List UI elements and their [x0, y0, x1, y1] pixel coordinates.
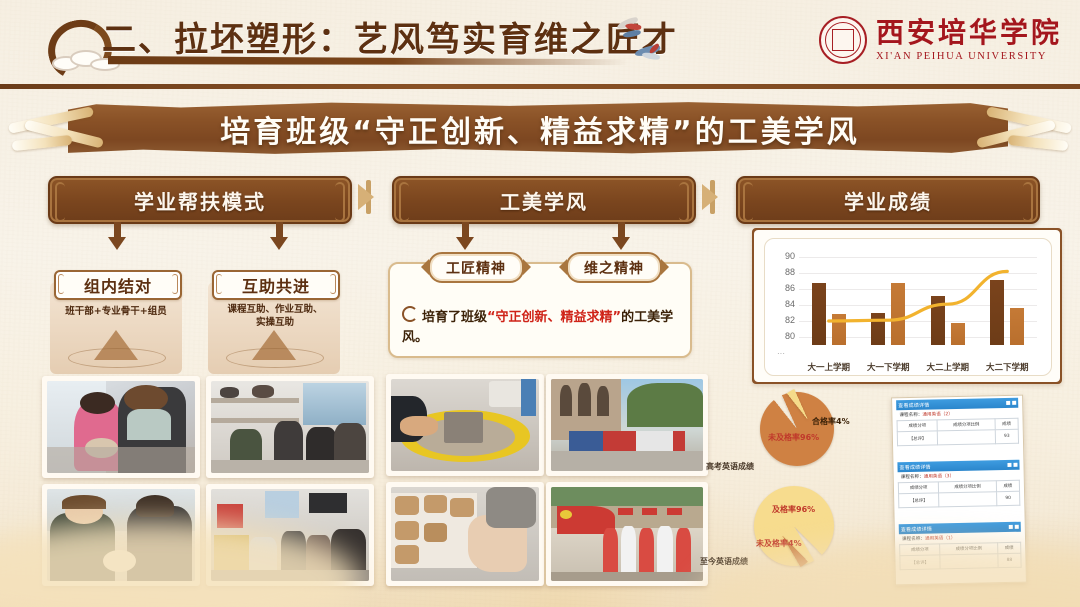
chart-y-tick: 82 — [769, 315, 795, 325]
course-value: 通用英语（2） — [922, 412, 953, 418]
spirit-pill-1[interactable]: 工匠精神 — [428, 252, 524, 283]
table-row: 【总评】90 — [899, 491, 1020, 508]
pie-slice-label: 未及格率4% — [756, 538, 802, 549]
chart-y-tick: 84 — [769, 299, 795, 309]
window-title: 查看成绩详情 — [899, 463, 930, 471]
minimize-icon[interactable] — [1006, 401, 1010, 405]
col-score: 成绩 — [995, 418, 1018, 429]
chart-x-label: 大二下学期 — [979, 361, 1035, 373]
slide-root: 二、拉坯塑形：艺风笃实育维之匠才 西安培华学院 XI'AN PEIHUA UNI… — [0, 0, 1080, 607]
bullet-circle-icon — [402, 306, 418, 322]
window-controls[interactable] — [1009, 525, 1019, 529]
photo-campus-group-photo[interactable] — [546, 374, 708, 476]
column-header-2[interactable]: 工美学风 — [392, 176, 696, 224]
subcard-1-title-pill[interactable]: 组内结对 — [54, 270, 182, 300]
bullet-pre: 培育了班级 — [422, 310, 487, 325]
spirit-pill-2-label: 维之精神 — [584, 258, 644, 278]
chart-trend-line — [799, 249, 1037, 345]
spirit-bullet-text: 培育了班级“守正创新、精益求精”的工美学风。 — [402, 306, 680, 347]
minimize-icon[interactable] — [1007, 463, 1011, 467]
row-ratio — [938, 430, 996, 445]
course-label: 课程名称： — [899, 413, 922, 418]
chart-frame: 808284868890大一上学期大一下学期大二上学期大二下学期 ··· — [752, 228, 1062, 384]
arrow-separator-1-icon — [356, 178, 382, 218]
course-value: 通用英语（3） — [924, 474, 955, 480]
logo-name-cn: 西安培华学院 — [876, 19, 1062, 47]
row-ratio — [939, 492, 997, 507]
grade-table: 成绩分项成绩分项比例成绩 【总评】88 — [899, 542, 1022, 571]
chart-plot-area: 808284868890大一上学期大一下学期大二上学期大二下学期 — [799, 249, 1037, 345]
table-row: 【总评】88 — [900, 553, 1021, 570]
course-label: 课程名称： — [901, 475, 924, 480]
subcard-1-desc: 班干部+专业骨干+组员 — [46, 306, 186, 319]
chart-x-label: 大一上学期 — [801, 361, 857, 373]
close-icon[interactable] — [1013, 463, 1017, 467]
col-item: 成绩分项 — [898, 482, 939, 494]
photo-students-carving[interactable] — [42, 484, 200, 586]
window-title: 查看成绩详情 — [898, 401, 929, 409]
pie-chart[interactable] — [754, 486, 834, 566]
pie-slice-label: 及格率96% — [772, 504, 815, 515]
university-logo: 西安培华学院 XI'AN PEIHUA UNIVERSITY — [819, 16, 1062, 64]
pie-caption: 至今英语成绩 — [700, 556, 748, 567]
row-label: 【总评】 — [899, 493, 940, 508]
column-header-2-label: 工美学风 — [500, 186, 588, 215]
header-divider — [0, 84, 1080, 89]
seal-icon — [819, 16, 867, 64]
down-arrow-icon — [456, 222, 474, 254]
down-arrow-icon — [612, 222, 630, 254]
window-title: 查看成绩详情 — [901, 525, 932, 533]
row-score: 88 — [998, 553, 1021, 567]
photo-clay-tiles[interactable] — [386, 482, 544, 586]
slide-header: 二、拉坯塑形：艺风笃实育维之匠才 西安培华学院 XI'AN PEIHUA UNI… — [0, 0, 1080, 88]
photo-pottery-mother-child[interactable] — [42, 376, 200, 478]
pie-chart[interactable] — [760, 392, 834, 466]
row-label: 【总评】 — [897, 431, 938, 446]
photo-red-flag-group[interactable] — [546, 482, 708, 586]
row-score: 93 — [995, 429, 1018, 443]
grade-table: 成绩分项成绩分项比例成绩 【总评】93 — [897, 418, 1020, 447]
close-icon[interactable] — [1015, 525, 1019, 529]
subcard-1-title: 组内结对 — [84, 273, 152, 297]
photo-studio-classroom[interactable] — [206, 376, 374, 478]
photo-group-workshop[interactable] — [206, 484, 374, 586]
row-ratio — [940, 554, 998, 569]
column-header-1[interactable]: 学业帮扶模式 — [48, 176, 352, 224]
spirit-pill-2[interactable]: 维之精神 — [566, 252, 662, 283]
logo-name-en: XI'AN PEIHUA UNIVERSITY — [876, 51, 1062, 62]
close-icon[interactable] — [1012, 401, 1016, 405]
column-header-3-label: 学业成绩 — [844, 186, 932, 215]
minimize-icon[interactable] — [1009, 525, 1013, 529]
chart-y-tick: 86 — [769, 283, 795, 293]
down-arrow-icon — [270, 222, 288, 254]
birds-decoration — [608, 14, 678, 80]
grade-detail-window[interactable]: 查看成绩详情 课程名称：通用英语（2） 成绩分项成绩分项比例成绩 【总评】93 — [896, 398, 1019, 447]
col-score: 成绩 — [996, 480, 1019, 491]
course-value: 通用英语（1） — [925, 536, 956, 542]
column-header-3[interactable]: 学业成绩 — [736, 176, 1040, 224]
grade-bar-chart[interactable]: 808284868890大一上学期大一下学期大二上学期大二下学期 ··· — [764, 238, 1052, 376]
column-header-1-label: 学业帮扶模式 — [134, 186, 266, 215]
chart-x-label: 大一下学期 — [860, 361, 916, 373]
course-label: 课程名称： — [902, 537, 925, 542]
pie-slice-label: 合格率4% — [812, 416, 850, 427]
spirit-pill-1-label: 工匠精神 — [446, 258, 506, 278]
grade-detail-window-stack[interactable]: 查看成绩详情 课程名称：通用英语（2） 成绩分项成绩分项比例成绩 【总评】93 … — [891, 395, 1027, 586]
arrow-separator-2-icon — [700, 178, 726, 218]
window-controls[interactable] — [1006, 401, 1016, 405]
pie-caption: 高考英语成绩 — [706, 461, 754, 472]
chart-y-tick: 90 — [769, 251, 795, 261]
subcard-2-title-pill[interactable]: 互助共进 — [212, 270, 340, 300]
chart-x-label: 大二上学期 — [920, 361, 976, 373]
col-item: 成绩分项 — [897, 420, 938, 432]
subcard-2-title: 互助共进 — [242, 273, 310, 297]
row-score: 90 — [996, 491, 1019, 505]
row-label: 【总评】 — [900, 555, 941, 570]
grade-detail-window[interactable]: 查看成绩详情 课程名称：通用英语（3） 成绩分项成绩分项比例成绩 【总评】90 — [897, 460, 1020, 509]
down-arrow-icon — [108, 222, 126, 254]
window-controls[interactable] — [1007, 463, 1017, 467]
pie-slice-label: 未及格率96% — [768, 432, 819, 443]
col-score: 成绩 — [997, 542, 1020, 553]
col-item: 成绩分项 — [900, 544, 941, 556]
chart-y-tick: 80 — [769, 331, 795, 341]
table-row: 【总评】93 — [897, 429, 1018, 446]
grade-table: 成绩分项成绩分项比例成绩 【总评】90 — [898, 480, 1021, 509]
grade-detail-window[interactable]: 查看成绩详情 课程名称：通用英语（1） 成绩分项成绩分项比例成绩 【总评】88 — [899, 522, 1022, 571]
chart-y-tick: 88 — [769, 267, 795, 277]
banner-title: 培育班级“守正创新、精益求精”的工美学风 — [0, 97, 1080, 161]
photo-potters-wheel[interactable] — [386, 374, 544, 476]
subcard-2-desc: 课程互助、作业互助、 实操互助 — [204, 304, 346, 330]
axis-break-icon: ··· — [777, 349, 785, 358]
spirit-panel: 工匠精神 维之精神 培育了班级“守正创新、精益求精”的工美学风。 — [388, 262, 692, 358]
bullet-highlight: “守正创新、精益求精” — [487, 310, 621, 325]
page-title: 二、拉坯塑形：艺风笃实育维之匠才 — [102, 12, 678, 61]
